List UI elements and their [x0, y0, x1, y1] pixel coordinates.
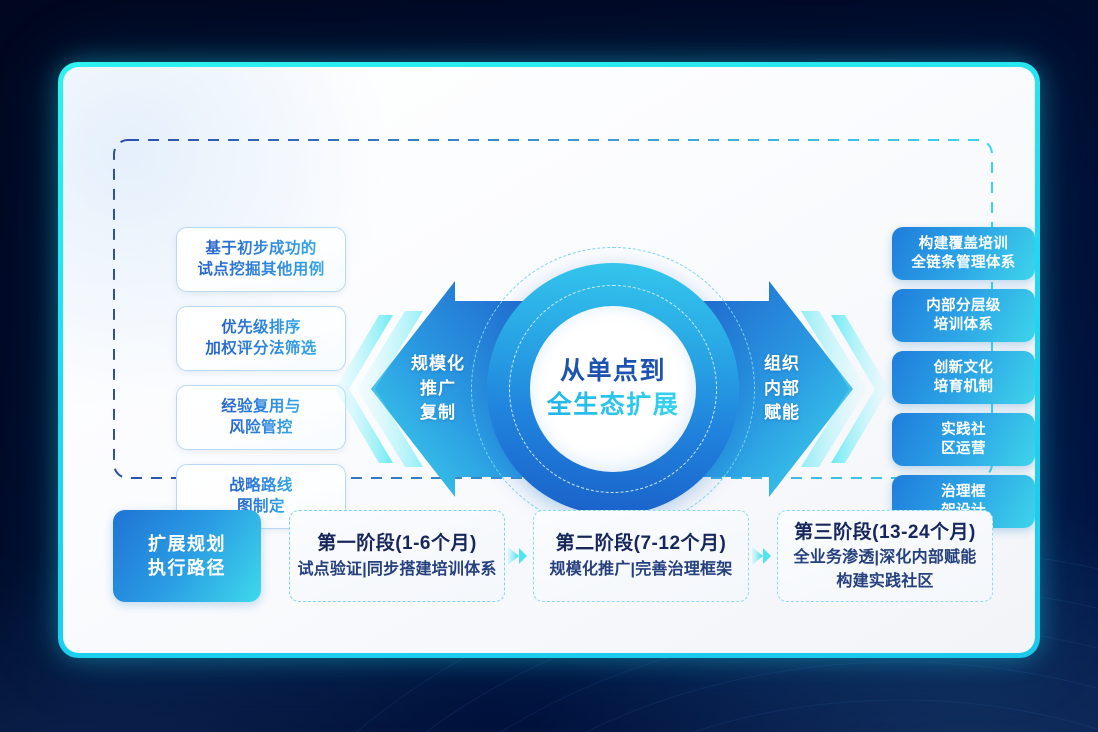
- card-line: 实践社: [941, 421, 986, 440]
- list-item[interactable]: 实践社 区运营: [892, 413, 1035, 466]
- timeline-header-badge: 扩展规划 执行路径: [113, 510, 261, 602]
- arrow-label-line: 内部: [744, 377, 820, 402]
- arrow-label-line: 规模化: [395, 352, 481, 377]
- timeline-phase-1[interactable]: 第一阶段(1-6个月) 试点验证|同步搭建培训体系: [289, 510, 505, 602]
- card-line: 战略路线: [229, 476, 293, 496]
- timeline-header-line2: 执行路径: [148, 556, 226, 580]
- timeline-phase-3[interactable]: 第三阶段(13-24个月) 全业务渗透|深化内部赋能 构建实践社区: [777, 510, 993, 602]
- arrow-label-line: 组织: [744, 352, 820, 377]
- center-title-line1: 从单点到: [560, 355, 666, 389]
- right-arrow-label: 组织 内部 赋能: [744, 352, 820, 426]
- arrow-label-line: 复制: [395, 401, 481, 426]
- list-item[interactable]: 构建覆盖培训 全链条管理体系: [892, 227, 1035, 280]
- center-wheel: 从单点到 全生态扩展: [487, 263, 739, 515]
- phase-arrow-2-icon: [749, 510, 777, 602]
- card-line: 风险管控: [229, 418, 293, 438]
- list-item[interactable]: 优先级排序 加权评分法筛选: [176, 306, 346, 371]
- card-line: 内部分层级: [926, 297, 1001, 316]
- card-line: 全链条管理体系: [911, 254, 1015, 273]
- card-line: 基于初步成功的: [205, 239, 316, 259]
- infographic-canvas: 基于初步成功的 试点挖掘其他用例 优先级排序 加权评分法筛选 经验复用与 风险管…: [0, 0, 1098, 732]
- phase-title: 第三阶段(13-24个月): [794, 520, 976, 546]
- list-item[interactable]: 创新文化 培育机制: [892, 351, 1035, 404]
- phase-arrow-1-icon: [505, 510, 533, 602]
- card-line: 创新文化: [934, 359, 994, 378]
- content-sheet: 基于初步成功的 试点挖掘其他用例 优先级排序 加权评分法筛选 经验复用与 风险管…: [63, 67, 1035, 653]
- card-line: 构建覆盖培训: [919, 235, 1008, 254]
- card-line: 区运营: [941, 440, 986, 459]
- phase-title: 第一阶段(1-6个月): [317, 531, 477, 557]
- card-line: 培训体系: [934, 316, 994, 335]
- timeline-phase-2[interactable]: 第二阶段(7-12个月) 规模化推广|完善治理框架: [533, 510, 749, 602]
- scale-capability-card-list: 基于初步成功的 试点挖掘其他用例 优先级排序 加权评分法筛选 经验复用与 风险管…: [176, 227, 346, 543]
- arrow-label-line: 推广: [395, 377, 481, 402]
- spacer: [261, 510, 289, 602]
- card-line: 加权评分法筛选: [205, 339, 316, 359]
- empowerment-card-list: 构建覆盖培训 全链条管理体系 内部分层级 培训体系 创新文化 培育机制 实践社 …: [892, 227, 1035, 537]
- list-item[interactable]: 经验复用与 风险管控: [176, 385, 346, 450]
- timeline-header-line1: 扩展规划: [148, 532, 226, 556]
- phase-title: 第二阶段(7-12个月): [556, 531, 727, 557]
- phase-subtitle: 试点验证|同步搭建培训体系: [297, 559, 496, 581]
- roadmap-timeline: 扩展规划 执行路径 第一阶段(1-6个月) 试点验证|同步搭建培训体系: [113, 510, 993, 602]
- card-line: 治理框: [941, 483, 986, 502]
- card-line: 试点挖掘其他用例: [197, 260, 324, 280]
- card-line: 优先级排序: [221, 318, 301, 338]
- neon-frame: 基于初步成功的 试点挖掘其他用例 优先级排序 加权评分法筛选 经验复用与 风险管…: [58, 62, 1040, 658]
- center-hub: 从单点到 全生态扩展: [530, 306, 696, 472]
- list-item[interactable]: 基于初步成功的 试点挖掘其他用例: [176, 227, 346, 292]
- phase-subtitle-line2: 构建实践社区: [836, 571, 933, 593]
- list-item[interactable]: 内部分层级 培训体系: [892, 289, 1035, 342]
- center-title-line2: 全生态扩展: [547, 389, 680, 423]
- card-line: 培育机制: [934, 378, 994, 397]
- left-arrow-label: 规模化 推广 复制: [395, 352, 481, 426]
- arrow-label-line: 赋能: [744, 401, 820, 426]
- phase-subtitle: 规模化推广|完善治理框架: [550, 559, 733, 581]
- phase-subtitle: 全业务渗透|深化内部赋能: [794, 547, 977, 569]
- card-line: 经验复用与: [221, 397, 301, 417]
